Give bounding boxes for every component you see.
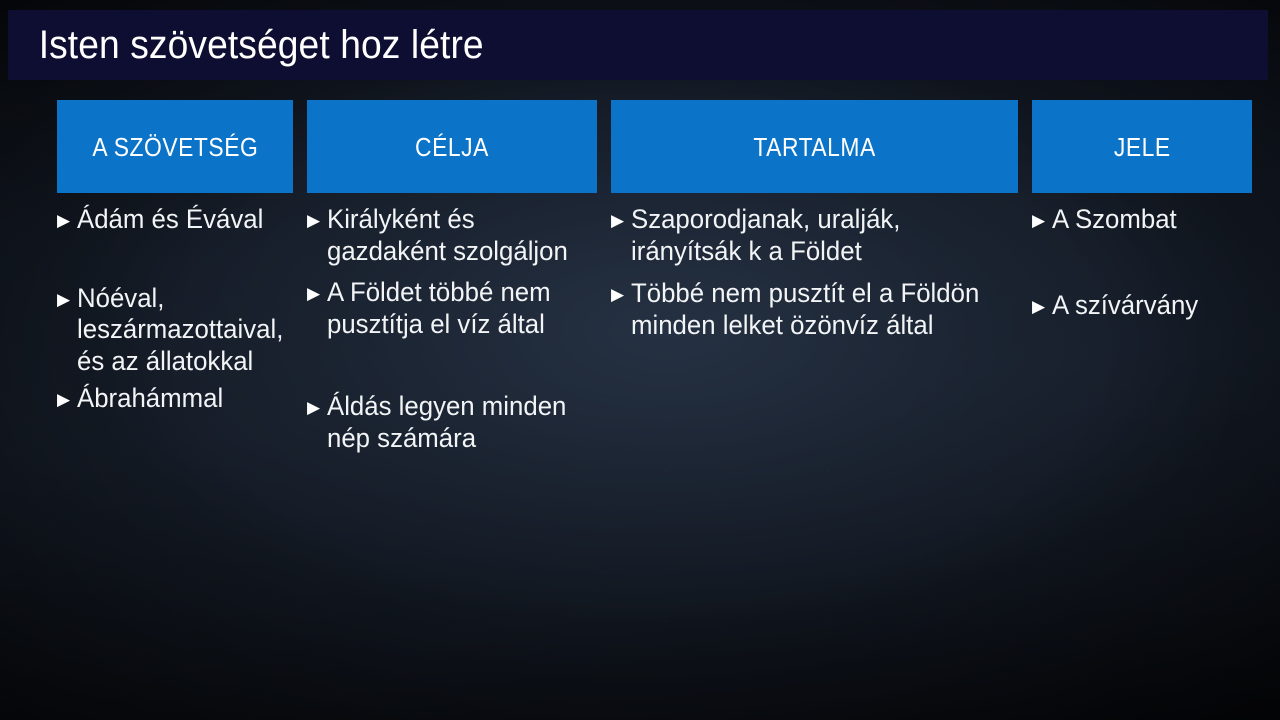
title-bar: Isten szövetséget hoz létre <box>8 10 1268 80</box>
list-item-label: Többé nem pusztít el a Földön minden lel… <box>631 278 1001 341</box>
column-header-label: CÉLJA <box>415 134 489 160</box>
column-header-label: A SZÖVETSÉG <box>92 134 258 160</box>
list-item: ▶ Áldás legyen minden nép számára <box>307 391 597 454</box>
triangle-bullet-icon: ▶ <box>1032 212 1051 229</box>
column-header-a-szovetseg: A SZÖVETSÉG <box>57 100 293 193</box>
triangle-bullet-icon: ▶ <box>611 212 630 229</box>
list-item: ▶ A szívárvány <box>1032 290 1252 322</box>
triangle-bullet-icon: ▶ <box>611 286 630 303</box>
list-item-label: Áldás legyen minden nép számára <box>327 391 585 454</box>
page-title: Isten szövetséget hoz létre <box>8 25 484 65</box>
list-item-label: A Földet többé nem pusztítja el víz álta… <box>327 277 585 340</box>
slide: Isten szövetséget hoz létre A SZÖVETSÉG … <box>0 0 1280 720</box>
columns-container: A SZÖVETSÉG ▶ Ádám és Évával ▶ Nóéval, l… <box>57 100 1252 660</box>
list-item: ▶ Szaporodjanak, uralják, irányítsák k a… <box>611 204 1018 267</box>
list-item-label: Ábrahámmal <box>77 383 283 415</box>
list-item-label: Királyként és gazdaként szolgáljon <box>327 204 585 267</box>
column-jele: JELE ▶ A Szombat ▶ A szívárvány <box>1032 100 1252 660</box>
list-item-label: A Szombat <box>1052 204 1243 236</box>
triangle-bullet-icon: ▶ <box>1032 298 1051 315</box>
triangle-bullet-icon: ▶ <box>307 212 326 229</box>
list-item: ▶ A Földet többé nem pusztítja el víz ál… <box>307 277 597 340</box>
triangle-bullet-icon: ▶ <box>57 212 76 229</box>
column-tartalma: TARTALMA ▶ Szaporodjanak, uralják, irány… <box>611 100 1018 660</box>
column-celja: CÉLJA ▶ Királyként és gazdaként szolgálj… <box>307 100 597 660</box>
triangle-bullet-icon: ▶ <box>57 291 76 308</box>
column-body-tartalma: ▶ Szaporodjanak, uralják, irányítsák k a… <box>611 193 1018 660</box>
column-header-jele: JELE <box>1032 100 1252 193</box>
column-body-celja: ▶ Királyként és gazdaként szolgáljon ▶ A… <box>307 193 597 660</box>
column-body-a-szovetseg: ▶ Ádám és Évával ▶ Nóéval, leszármazotta… <box>57 193 293 660</box>
list-item: ▶ Ádám és Évával <box>57 204 293 236</box>
list-item: ▶ Többé nem pusztít el a Földön minden l… <box>611 278 1018 341</box>
list-item-label: A szívárvány <box>1052 290 1243 322</box>
triangle-bullet-icon: ▶ <box>307 285 326 302</box>
list-item: ▶ Ábrahámmal <box>57 383 293 415</box>
column-body-jele: ▶ A Szombat ▶ A szívárvány <box>1032 193 1252 660</box>
list-item: ▶ A Szombat <box>1032 204 1252 236</box>
column-header-label: TARTALMA <box>753 134 875 160</box>
list-item-label: Nóéval, leszármazottaival, és az állatok… <box>77 283 283 378</box>
list-item: ▶ Királyként és gazdaként szolgáljon <box>307 204 597 267</box>
list-item-label: Ádám és Évával <box>77 204 283 236</box>
triangle-bullet-icon: ▶ <box>57 391 76 408</box>
column-header-celja: CÉLJA <box>307 100 597 193</box>
list-item: ▶ Nóéval, leszármazottaival, és az állat… <box>57 283 293 378</box>
column-header-label: JELE <box>1114 134 1171 160</box>
list-item-label: Szaporodjanak, uralják, irányítsák k a F… <box>631 204 1001 267</box>
triangle-bullet-icon: ▶ <box>307 399 326 416</box>
column-a-szovetseg: A SZÖVETSÉG ▶ Ádám és Évával ▶ Nóéval, l… <box>57 100 293 660</box>
column-header-tartalma: TARTALMA <box>611 100 1018 193</box>
